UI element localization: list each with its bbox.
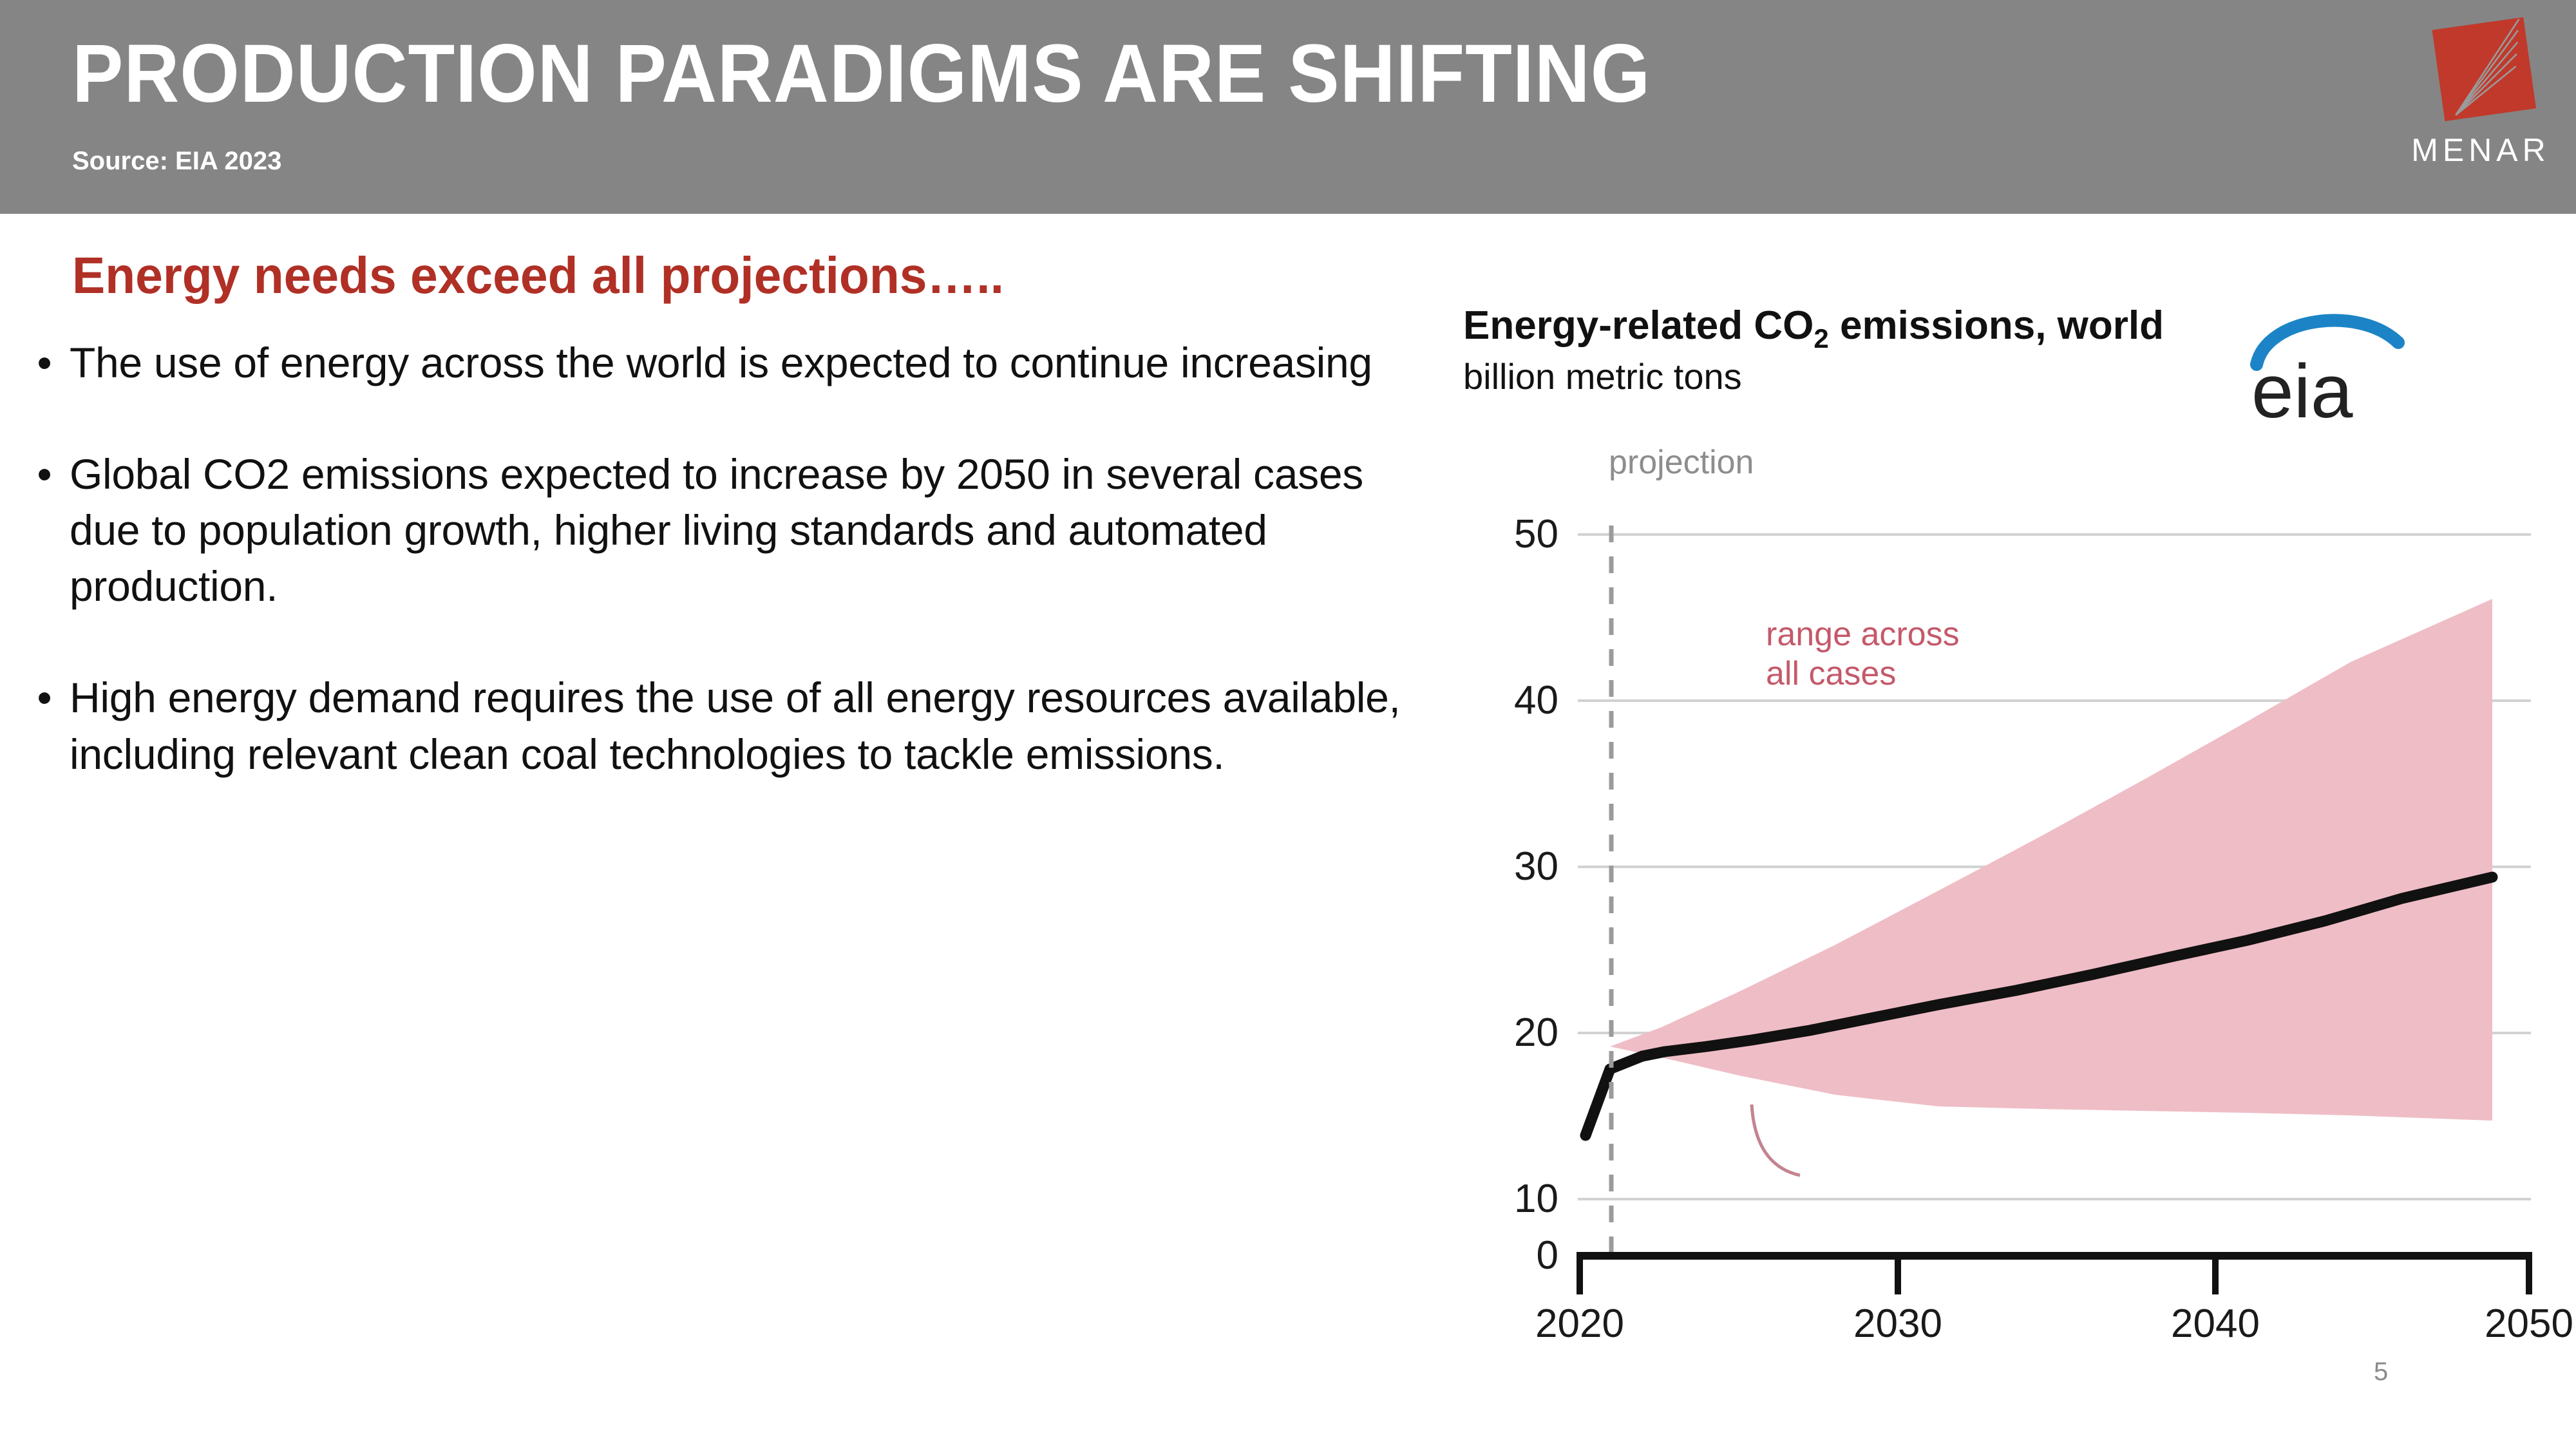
chart-title-subscript: 2 (1814, 323, 1828, 354)
list-item: • High energy demand requires the use of… (19, 670, 1410, 782)
section-headline: Energy needs exceed all projections….. (72, 246, 1004, 305)
page-title: PRODUCTION PARADIGMS ARE SHIFTING (72, 31, 1651, 117)
chart-title-suffix: emissions, world (1829, 303, 2164, 348)
bullet-marker-icon: • (19, 446, 70, 502)
chart-ytick-0: 0 (1449, 1233, 1558, 1278)
bullet-list: • The use of energy across the world is … (19, 335, 1410, 838)
chart-xtick-2040: 2040 (2132, 1301, 2299, 1347)
chart-xtick-2020: 2020 (1496, 1301, 1663, 1347)
chart-svg (1449, 399, 2576, 1397)
chart-range-label: range across all cases (1766, 615, 1960, 694)
chart-projection-label: projection (1609, 443, 1754, 482)
slide-number: 5 (2374, 1358, 2388, 1387)
list-item-text: Global CO2 emissions expected to increas… (70, 446, 1410, 614)
list-item-text: The use of energy across the world is ex… (70, 335, 1410, 391)
chart-subtitle: billion metric tons (1463, 355, 1742, 397)
menar-mark-icon (2428, 14, 2541, 127)
chart-ytick-30: 30 (1449, 844, 1558, 889)
chart-title-prefix: Energy-related CO (1463, 303, 1814, 348)
chart-plot-area: 50 40 30 20 10 0 2020 2030 2040 2050 pro… (1449, 399, 2576, 1397)
chart-ytick-10: 10 (1449, 1176, 1558, 1222)
chart-range-label-line1: range across (1766, 615, 1960, 654)
list-item: • Global CO2 emissions expected to incre… (19, 446, 1410, 614)
menar-wordmark: MENAR (2410, 131, 2552, 169)
chart-panel: Energy-related CO2 emissions, world bill… (1449, 303, 2576, 1397)
source-caption: Source: EIA 2023 (72, 147, 281, 176)
chart-title: Energy-related CO2 emissions, world (1463, 303, 2164, 348)
chart-range-callout-line (1752, 1104, 1800, 1175)
chart-ytick-40: 40 (1449, 677, 1558, 723)
chart-ytick-50: 50 (1449, 511, 1558, 557)
list-item-text: High energy demand requires the use of a… (70, 670, 1410, 782)
chart-xtick-2050: 2050 (2445, 1301, 2576, 1347)
chart-range-label-line2: all cases (1766, 654, 1960, 694)
menar-logo: MENAR (2410, 14, 2552, 198)
chart-xtick-2030: 2030 (1814, 1301, 1982, 1347)
chart-x-axis (1577, 1256, 2532, 1294)
bullet-marker-icon: • (19, 670, 70, 726)
bullet-marker-icon: • (19, 335, 70, 391)
list-item: • The use of energy across the world is … (19, 335, 1410, 391)
chart-ytick-20: 20 (1449, 1010, 1558, 1056)
slide-header-bar: PRODUCTION PARADIGMS ARE SHIFTING Source… (0, 0, 2576, 214)
